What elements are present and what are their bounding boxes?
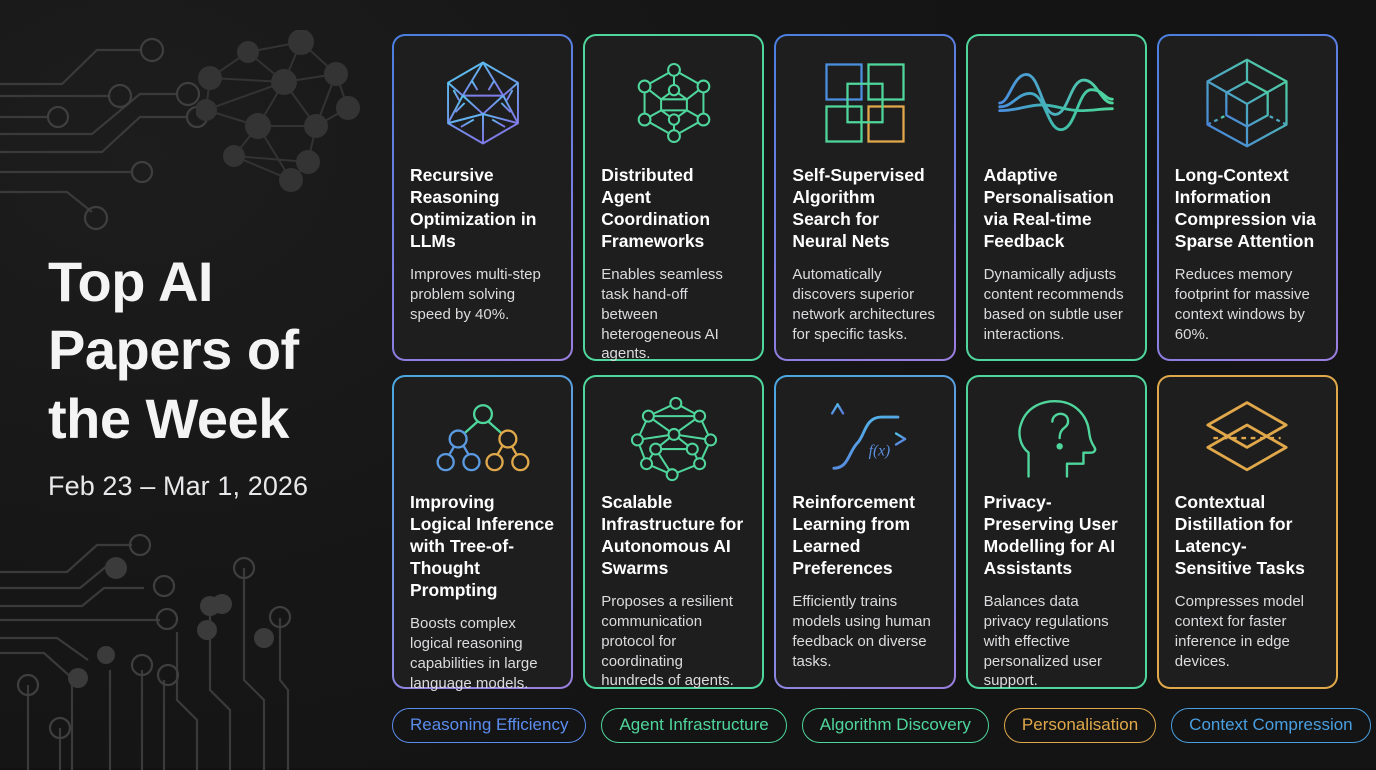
infographic-root: Top AI Papers of the Week Feb 23 – Mar 1… xyxy=(0,0,1376,768)
title-panel: Top AI Papers of the Week Feb 23 – Mar 1… xyxy=(48,248,388,502)
paper-title: Scalable Infrastructure for Autonomous A… xyxy=(601,491,746,579)
paper-card-10[interactable]: Contextual Distillation for Latency-Sens… xyxy=(1157,375,1338,689)
paper-title: Self-Supervised Algorithm Search for Neu… xyxy=(792,164,937,252)
svg-text:f(x): f(x) xyxy=(869,442,891,459)
tag-agent-infrastructure[interactable]: Agent Infrastructure xyxy=(601,708,786,743)
paper-description: Improves multi-step problem solving spee… xyxy=(410,265,555,324)
tag-algorithm-discovery[interactable]: Algorithm Discovery xyxy=(802,708,989,743)
tag-personalisation[interactable]: Personalisation xyxy=(1004,708,1156,743)
paper-title: Improving Logical Inference with Tree-of… xyxy=(410,491,555,601)
node-graph-decoration xyxy=(196,30,366,200)
paper-description: Reduces memory footprint for massive con… xyxy=(1175,265,1320,344)
tags-row: Reasoning Efficiency Agent Infrastructur… xyxy=(392,708,1342,743)
circuit-trace-decoration-bottom-left xyxy=(0,520,392,770)
paper-title: Contextual Distillation for Latency-Sens… xyxy=(1175,491,1320,579)
paper-title: Privacy-Preserving User Modelling for AI… xyxy=(984,491,1129,579)
paper-card-9[interactable]: Privacy-Preserving User Modelling for AI… xyxy=(966,375,1147,689)
paper-card-3[interactable]: Self-Supervised Algorithm Search for Neu… xyxy=(774,34,955,361)
overlapping-squares-icon xyxy=(792,50,937,156)
paper-description: Efficiently trains models using human fe… xyxy=(792,592,937,671)
decision-tree-icon xyxy=(410,391,555,487)
waveform-icon xyxy=(984,50,1129,156)
papers-grid: Recursive Reasoning Optimization in LLMs… xyxy=(392,34,1338,689)
paper-title: Adaptive Personalisation via Real-time F… xyxy=(984,164,1129,252)
paper-card-8[interactable]: f(x) Reinforcement Learning from Learned… xyxy=(774,375,955,689)
icosahedron-icon xyxy=(410,50,555,156)
layers-stack-icon xyxy=(1175,391,1320,487)
page-title: Top AI Papers of the Week xyxy=(48,248,388,453)
tag-reasoning-efficiency[interactable]: Reasoning Efficiency xyxy=(392,708,586,743)
hexagon-node-graph-icon xyxy=(601,50,746,156)
isometric-cube-icon xyxy=(1175,50,1320,156)
function-graph-icon: f(x) xyxy=(792,391,937,487)
paper-card-6[interactable]: Improving Logical Inference with Tree-of… xyxy=(392,375,573,689)
circuit-trace-decoration-top-left xyxy=(0,0,392,244)
paper-title: Long-Context Information Compression via… xyxy=(1175,164,1320,252)
paper-description: Compresses model context for faster infe… xyxy=(1175,592,1320,671)
paper-description: Automatically discovers superior network… xyxy=(792,265,937,344)
date-range: Feb 23 – Mar 1, 2026 xyxy=(48,471,388,502)
paper-description: Proposes a resilient communication proto… xyxy=(601,592,746,691)
tag-context-compression[interactable]: Context Compression xyxy=(1171,708,1370,743)
paper-card-2[interactable]: Distributed Agent Coordination Framework… xyxy=(583,34,764,361)
paper-description: Boosts complex logical reasoning capabil… xyxy=(410,614,555,693)
paper-card-4[interactable]: Adaptive Personalisation via Real-time F… xyxy=(966,34,1147,361)
paper-title: Recursive Reasoning Optimization in LLMs xyxy=(410,164,555,252)
mesh-network-icon xyxy=(601,391,746,487)
paper-card-5[interactable]: Long-Context Information Compression via… xyxy=(1157,34,1338,361)
paper-description: Dynamically adjusts content recommends b… xyxy=(984,265,1129,344)
paper-card-1[interactable]: Recursive Reasoning Optimization in LLMs… xyxy=(392,34,573,361)
head-profile-icon xyxy=(984,391,1129,487)
paper-card-7[interactable]: Scalable Infrastructure for Autonomous A… xyxy=(583,375,764,689)
paper-description: Balances data privacy regulations with e… xyxy=(984,592,1129,691)
paper-description: Enables seamless task hand-off between h… xyxy=(601,265,746,364)
paper-title: Reinforcement Learning from Learned Pref… xyxy=(792,491,937,579)
paper-title: Distributed Agent Coordination Framework… xyxy=(601,164,746,252)
